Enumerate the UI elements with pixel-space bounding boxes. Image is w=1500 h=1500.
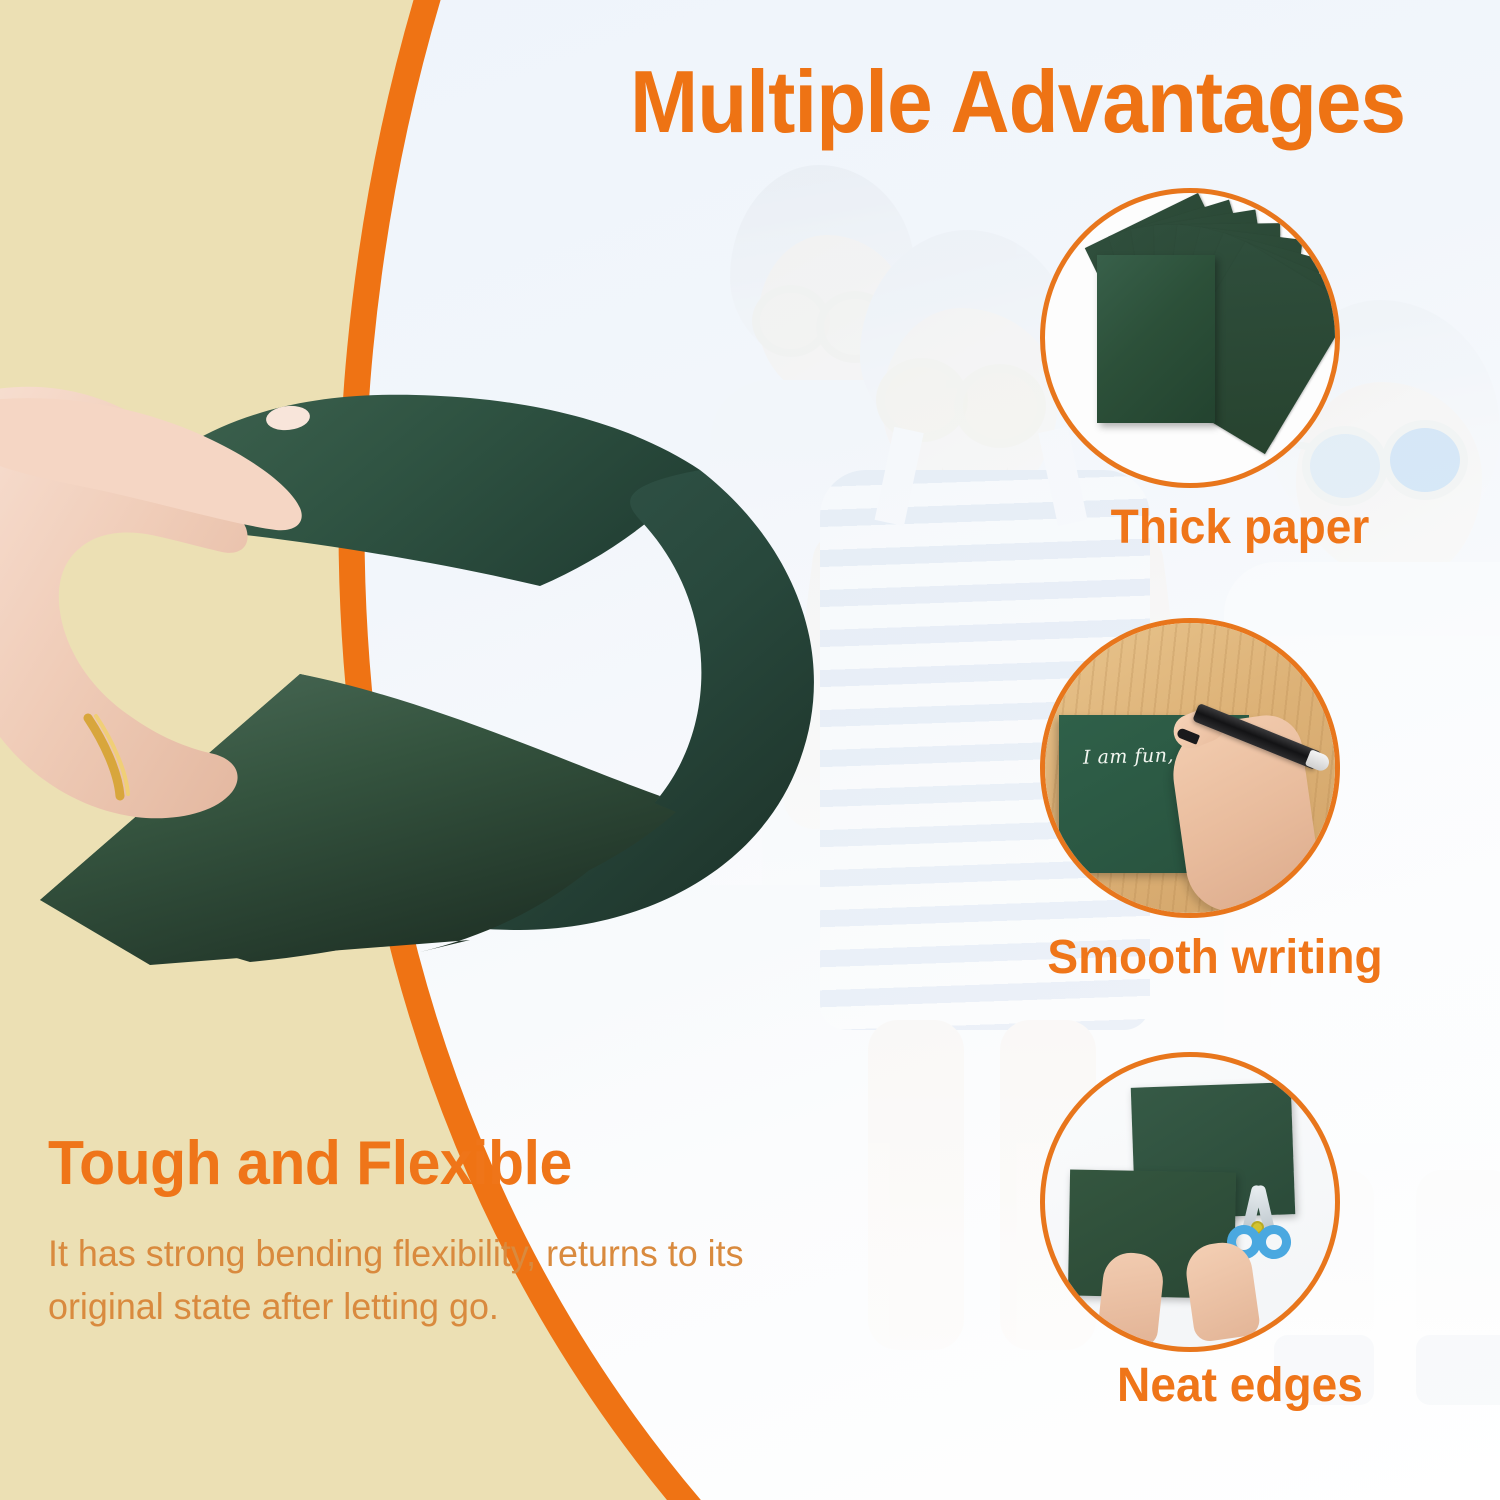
feature-image-circle (1040, 188, 1340, 488)
infographic-canvas: Multiple Advantages Tough and Flexible I… (0, 0, 1500, 1500)
paper-stack-illustration (1045, 193, 1340, 488)
glasses-lens-right (1382, 420, 1468, 500)
feature-image-circle (1040, 1052, 1340, 1352)
stack-front-sheet (1097, 255, 1215, 423)
page-title: Multiple Advantages (630, 58, 1430, 146)
feature-label-neat-edges: Neat edges (1019, 1358, 1461, 1413)
feature-image-circle: I am fun, and (1040, 618, 1340, 918)
child-face (882, 308, 1058, 503)
left-feature-title: Tough and Flexible (48, 1128, 572, 1199)
hand-left (1096, 1250, 1165, 1348)
feature-label-thick-paper: Thick paper (1019, 500, 1461, 555)
sunglasses-lens-right (954, 364, 1046, 448)
child-smile (942, 448, 1008, 485)
feature-label-smooth-writing: Smooth writing (994, 930, 1436, 985)
sunglasses-bridge (946, 380, 962, 388)
left-feature-description: It has strong bending flexibility, retur… (48, 1228, 756, 1333)
